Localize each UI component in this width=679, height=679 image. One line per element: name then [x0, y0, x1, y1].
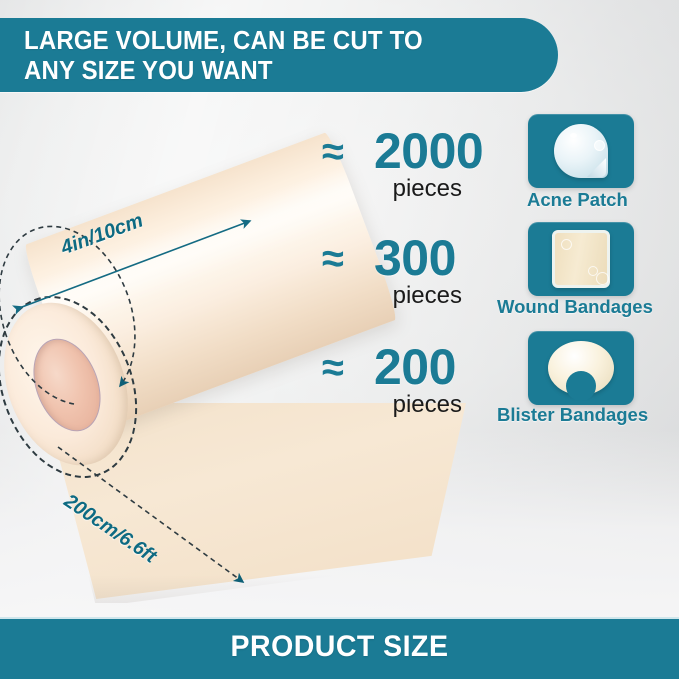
approx-icon: ≈: [322, 132, 344, 172]
acne-patch-card: [528, 114, 634, 188]
yield-count: 300: [374, 233, 456, 283]
acne-patch-bubble-icon: [594, 140, 605, 151]
yield-count: 2000: [374, 126, 483, 176]
footer-title: PRODUCT SIZE: [17, 630, 662, 664]
product-infographic: LARGE VOLUME, CAN BE CUT TO ANY SIZE YOU…: [0, 0, 679, 679]
blister-bandages-label: Blister Bandages: [497, 404, 648, 426]
wound-bandage-bubble-icon: [561, 239, 572, 250]
header-title: LARGE VOLUME, CAN BE CUT TO ANY SIZE YOU…: [24, 26, 494, 86]
footer-banner: PRODUCT SIZE: [0, 617, 679, 679]
approx-icon: ≈: [322, 348, 344, 388]
wound-bandage-bubble-icon: [596, 272, 609, 285]
yield-unit: pieces: [330, 284, 462, 308]
yield-count: 200: [374, 342, 456, 392]
yield-unit: pieces: [330, 177, 462, 201]
acne-patch-label: Acne Patch: [527, 189, 628, 211]
wound-bandages-label: Wound Bandages: [497, 296, 653, 318]
acne-patch-shine-icon: [570, 133, 577, 138]
yield-unit: pieces: [330, 393, 462, 417]
blister-bandage-notch-icon: [566, 371, 596, 401]
header-banner: LARGE VOLUME, CAN BE CUT TO ANY SIZE YOU…: [0, 18, 558, 92]
approx-icon: ≈: [322, 239, 344, 279]
wound-bandage-card: [528, 222, 634, 296]
blister-bandage-card: [528, 331, 634, 405]
